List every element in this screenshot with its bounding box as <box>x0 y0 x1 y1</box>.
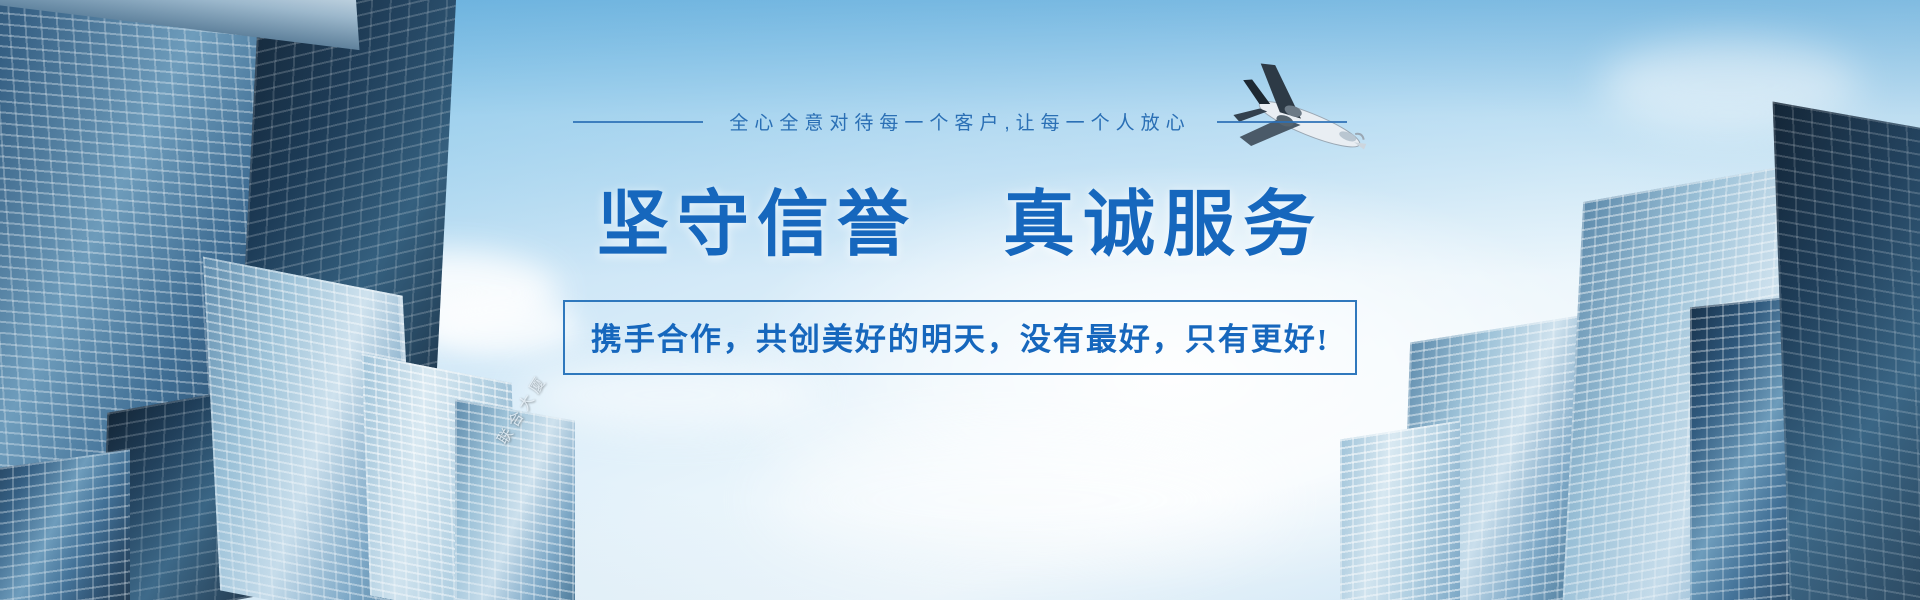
subtitle-text: 携手合作，共创美好的明天，没有最好，只有更好! <box>591 314 1329 359</box>
tagline-text: 全心全意对待每一个客户,让每一个人放心 <box>729 108 1190 135</box>
headline-part-2: 真诚服务 <box>1003 185 1323 265</box>
hero-banner: 联合大厦 全心全意对待每一个客户 <box>0 0 1920 600</box>
banner-content: 全心全意对待每一个客户,让每一个人放心 坚守信誉 真诚服务 携手合作，共创美好的… <box>0 0 1920 600</box>
tagline-rule-right <box>1217 121 1347 123</box>
tagline-rule-left <box>573 121 703 123</box>
page-title: 坚守信誉 真诚服务 <box>597 165 1323 270</box>
headline-part-1: 坚守信誉 <box>597 185 917 265</box>
tagline-row: 全心全意对待每一个客户,让每一个人放心 <box>573 108 1346 135</box>
subtitle-box: 携手合作，共创美好的明天，没有最好，只有更好! <box>563 300 1357 375</box>
